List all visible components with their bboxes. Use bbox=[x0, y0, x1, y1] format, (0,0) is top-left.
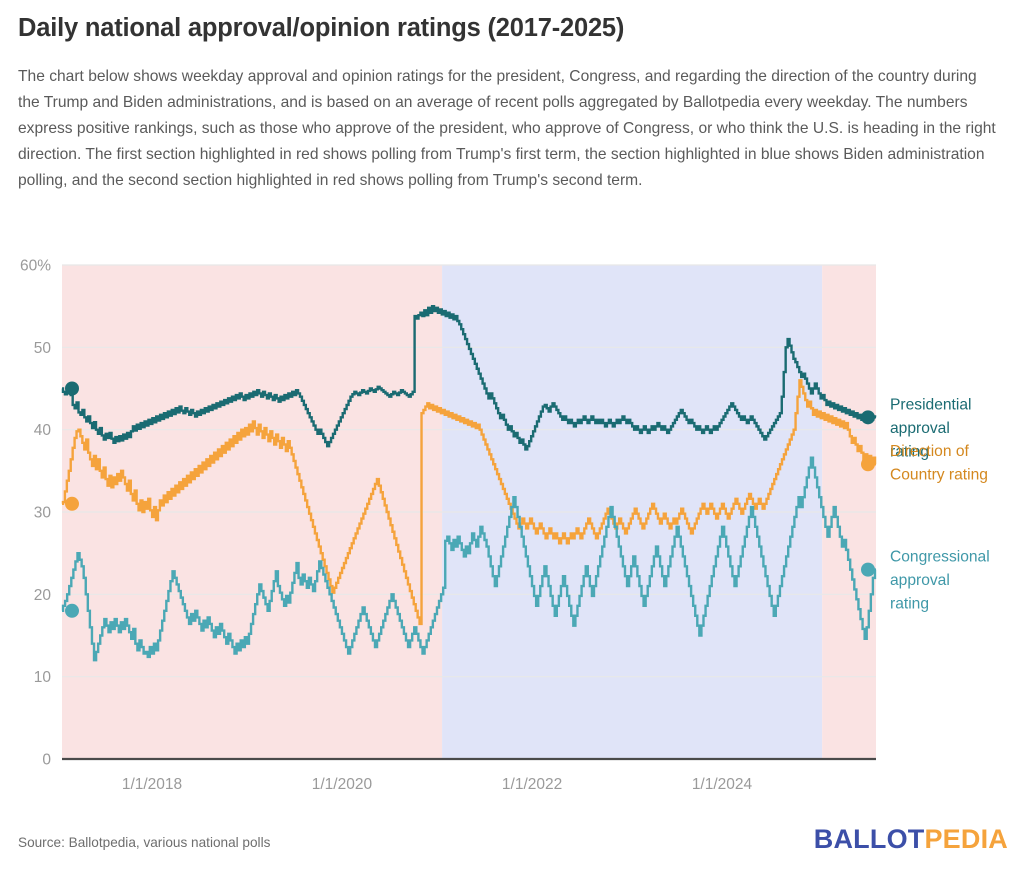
chart-container: 0102030405060% 1/1/20181/1/20201/1/20221… bbox=[0, 250, 1024, 810]
x-axis-tick-labels: 1/1/20181/1/20201/1/20221/1/2024 bbox=[122, 776, 753, 793]
y-tick-10: 10 bbox=[34, 669, 52, 686]
x-tick-1/1/2022: 1/1/2022 bbox=[502, 776, 562, 793]
legend-label-direction: Country rating bbox=[890, 467, 988, 484]
legend-label-congressional: rating bbox=[890, 596, 929, 613]
x-tick-1/1/2020: 1/1/2020 bbox=[312, 776, 373, 793]
start-marker-presidential-approval-rating bbox=[65, 382, 79, 396]
start-marker-congressional-approval-rating bbox=[65, 604, 79, 618]
legend-label-congressional: Congressional bbox=[890, 549, 990, 566]
legend-label-direction: Direction of bbox=[890, 443, 970, 460]
y-tick-30: 30 bbox=[34, 505, 52, 522]
chart-description: The chart below shows weekday approval a… bbox=[18, 64, 1002, 194]
end-marker-congressional-approval-rating bbox=[861, 563, 875, 577]
logo-pedia-text: PEDIA bbox=[924, 824, 1008, 854]
y-tick-60: 60% bbox=[20, 258, 51, 275]
legend-label-congressional: approval bbox=[890, 572, 950, 589]
y-tick-20: 20 bbox=[34, 587, 52, 604]
approval-ratings-line-chart: 0102030405060% 1/1/20181/1/20201/1/20221… bbox=[0, 250, 1024, 810]
source-note: Source: Ballotpedia, various national po… bbox=[18, 835, 270, 850]
y-axis-tick-labels: 0102030405060% bbox=[20, 258, 51, 769]
start-marker-direction-of-country-rating bbox=[65, 497, 79, 511]
legend-label-presidential: Presidential bbox=[890, 396, 971, 413]
y-tick-40: 40 bbox=[34, 422, 52, 439]
y-tick-0: 0 bbox=[42, 752, 51, 769]
ballotpedia-logo: BALLOTPEDIA bbox=[814, 824, 1008, 855]
legend-label-presidential: approval bbox=[890, 420, 950, 437]
logo-ballot-text: BALLOT bbox=[814, 824, 925, 854]
end-marker-presidential-approval-rating bbox=[861, 410, 875, 424]
end-marker-direction-of-country-rating bbox=[861, 457, 875, 471]
chart-legend: PresidentialapprovalratingDirection ofCo… bbox=[890, 396, 990, 612]
x-tick-1/1/2018: 1/1/2018 bbox=[122, 776, 182, 793]
page-title: Daily national approval/opinion ratings … bbox=[18, 14, 624, 43]
y-tick-50: 50 bbox=[34, 340, 52, 357]
x-tick-1/1/2024: 1/1/2024 bbox=[692, 776, 753, 793]
